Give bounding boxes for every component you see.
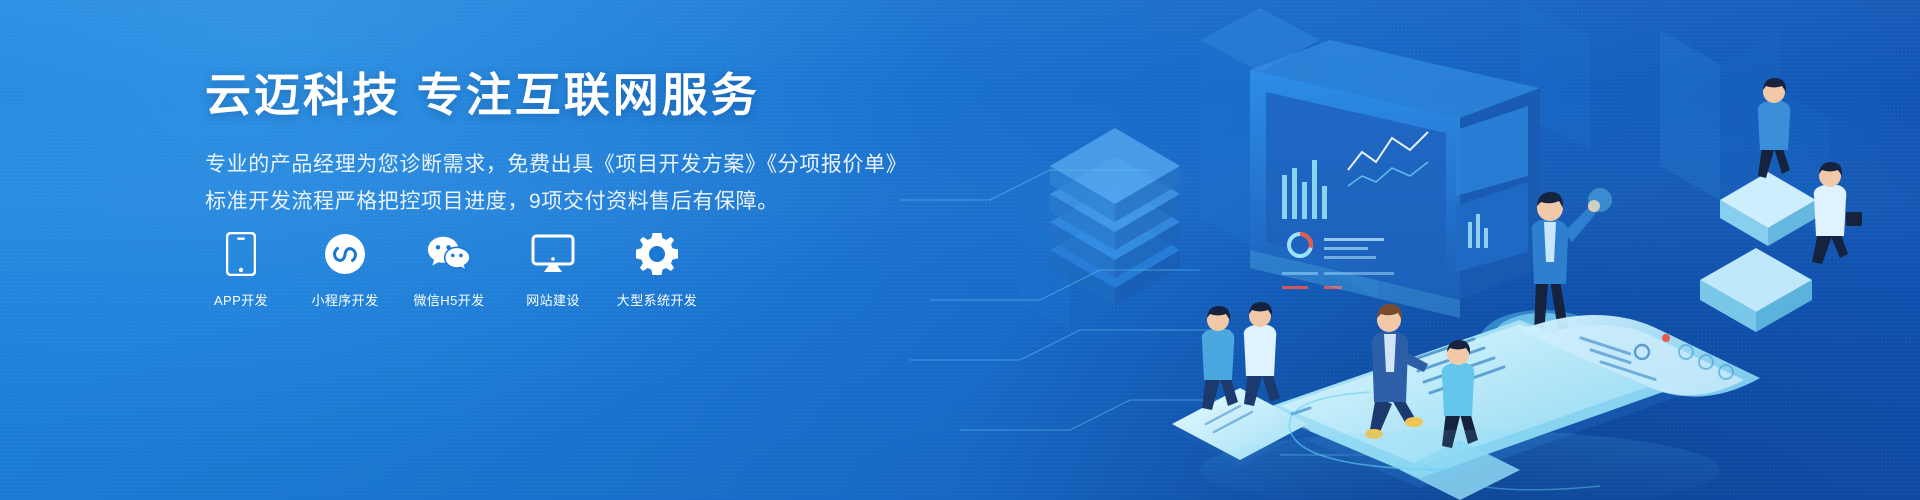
service-item-miniprogram[interactable]: 小程序开发 [309,232,381,309]
service-item-website[interactable]: 网站建设 [517,232,589,309]
service-label: 网站建设 [526,290,580,309]
hero-subtitle: 专业的产品经理为您诊断需求，免费出具《项目开发方案》《分项报价单》 标准开发流程… [205,148,907,219]
service-item-wechat[interactable]: 微信H5开发 [413,232,485,309]
person-pad-a [1202,306,1238,410]
service-list: APP开发 小程序开发 [205,232,693,309]
monitor-icon [531,232,575,276]
service-label: 微信H5开发 [413,290,484,309]
service-item-app[interactable]: APP开发 [205,232,277,309]
hero-banner: 云迈科技 专注互联网服务 专业的产品经理为您诊断需求，免费出具《项目开发方案》《… [0,0,1920,500]
service-label: APP开发 [214,290,268,309]
subtitle-line-1: 专业的产品经理为您诊断需求，免费出具《项目开发方案》《分项报价单》 [205,148,907,182]
server-stack [1050,128,1180,306]
service-label: 小程序开发 [311,290,378,309]
wechat-icon [427,232,471,276]
mobile-phone-icon [219,232,263,276]
service-item-system[interactable]: 大型系统开发 [621,232,693,309]
subtitle-line-2: 标准开发流程严格把控项目进度，9项交付资料售后有保障。 [205,185,907,219]
hero-copy: 云迈科技 专注互联网服务 专业的产品经理为您诊断需求，免费出具《项目开发方案》《… [205,68,907,219]
service-label: 大型系统开发 [617,290,697,309]
gear-icon [635,232,679,276]
touch-glow [1588,188,1612,212]
illustration [900,0,1920,500]
mini-program-icon [323,232,367,276]
person-pad-b [1244,302,1280,406]
page-title: 云迈科技 专注互联网服务 [205,68,907,122]
